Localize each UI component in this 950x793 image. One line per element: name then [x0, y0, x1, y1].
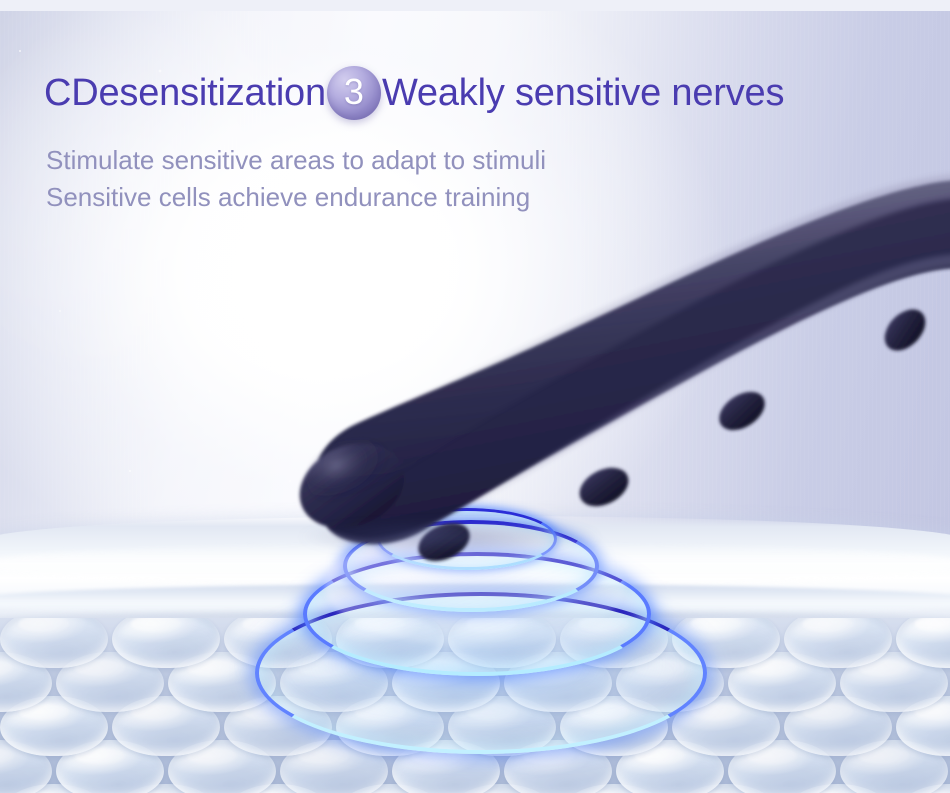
promo-banner: CDesensitization 3 Weakly sensitive nerv… [0, 0, 950, 793]
page-title: CDesensitization 3 Weakly sensitive nerv… [44, 66, 784, 120]
title-prefix: CDesensitization [44, 74, 326, 112]
subtitle-line-1: Stimulate sensitive areas to adapt to st… [46, 142, 546, 179]
skin-cell-layer [0, 618, 950, 793]
title-suffix: Weakly sensitive nerves [382, 74, 784, 112]
step-badge: 3 [327, 66, 381, 120]
step-badge-number: 3 [344, 74, 364, 110]
skin-surface-highlight [0, 543, 950, 587]
subtitle: Stimulate sensitive areas to adapt to st… [46, 142, 546, 216]
subtitle-line-2: Sensitive cells achieve endurance traini… [46, 179, 546, 216]
